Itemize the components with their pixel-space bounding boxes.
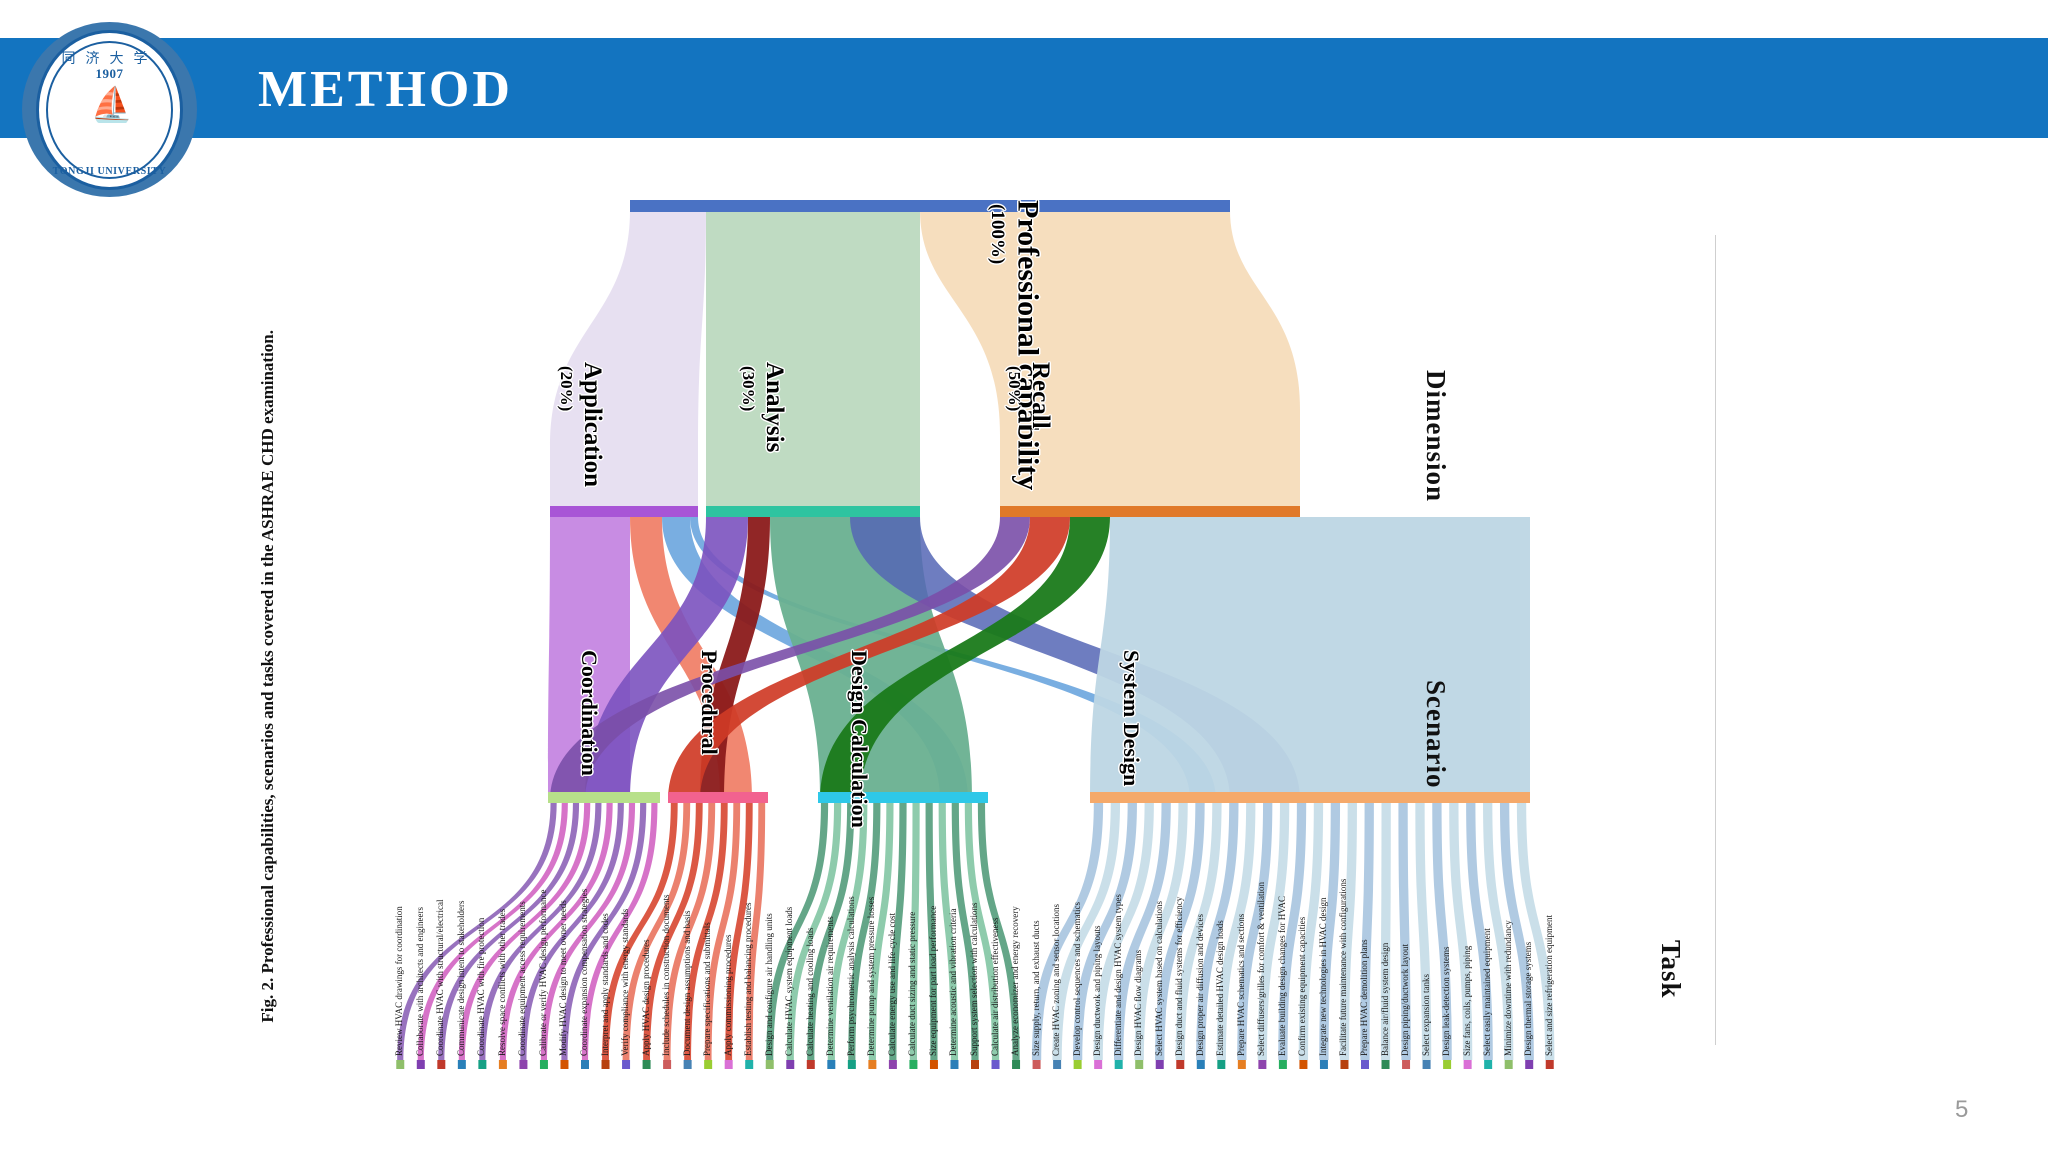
node-task[interactable] <box>704 1060 712 1069</box>
node-task[interactable] <box>1525 1060 1533 1069</box>
figure-container: Fig. 2. Professional capabilities, scena… <box>300 180 1720 1130</box>
node-task[interactable] <box>1361 1060 1369 1069</box>
node-label-professional-capability-text: Professional capability <box>1012 200 1045 490</box>
task-label: Select easily maintained equipment <box>1482 928 1492 1056</box>
node-task[interactable] <box>622 1060 630 1069</box>
task-label: Select and size refrigeration equipment <box>1544 915 1554 1056</box>
task-label: Prepare specifications and submittals <box>702 922 712 1056</box>
task-label: Prepare HVAC demolition plans <box>1359 939 1369 1056</box>
task-label: Design leak-detection systems <box>1441 947 1451 1056</box>
node-label-recall: Recall <box>1026 362 1054 429</box>
task-label: Design HVAC flow diagrams <box>1133 950 1143 1056</box>
task-label: Select diffusers/grilles for comfort & v… <box>1256 882 1266 1056</box>
node-label-system-design: System Design <box>1118 650 1144 786</box>
node-task[interactable] <box>889 1060 897 1069</box>
task-label: Establish testing and balancing procedur… <box>743 903 753 1056</box>
node-task[interactable] <box>1135 1060 1143 1069</box>
node-task[interactable] <box>909 1060 917 1069</box>
task-label: Calibrate or verify HVAC design performa… <box>538 889 548 1056</box>
page-title: METHOD <box>258 60 513 119</box>
logo-cjk-name: 同济大学 <box>22 48 197 68</box>
task-label: Perform psychrometric analysis calculati… <box>846 896 856 1056</box>
slide-number: 5 <box>1955 1096 1968 1124</box>
task-label: Interpret and apply standards and codes <box>600 913 610 1056</box>
node-task[interactable] <box>1012 1060 1020 1069</box>
node-procedural[interactable] <box>668 792 768 803</box>
node-label-professional-capability-percent: (100%) <box>986 204 1008 264</box>
node-task[interactable] <box>1115 1060 1123 1069</box>
node-task[interactable] <box>643 1060 651 1069</box>
node-task[interactable] <box>1382 1060 1390 1069</box>
task-label: Document design assumptions and basis <box>682 911 692 1057</box>
node-task[interactable] <box>786 1060 794 1069</box>
task-label: Determine ventilation air requirements <box>825 916 835 1056</box>
task-label: Select expansion tanks <box>1421 974 1431 1056</box>
flow-scenario-task <box>766 803 828 1060</box>
task-node-ticks <box>396 1060 1553 1069</box>
node-task[interactable] <box>1423 1060 1431 1069</box>
task-label: Apply HVAC design procedures <box>641 939 651 1056</box>
task-label: Design and configure air handling units <box>764 913 774 1056</box>
node-task[interactable] <box>437 1060 445 1069</box>
node-task[interactable] <box>1094 1060 1102 1069</box>
task-label: Determine pump and system pressure losse… <box>866 897 876 1056</box>
node-task[interactable] <box>663 1060 671 1069</box>
node-task[interactable] <box>1217 1060 1225 1069</box>
task-label: Design thermal storage systems <box>1523 942 1533 1056</box>
node-task[interactable] <box>1320 1060 1328 1069</box>
node-task[interactable] <box>684 1060 692 1069</box>
column-header-dimension: Dimension <box>1420 370 1451 502</box>
task-label: Size supply, return, and exhaust ducts <box>1031 920 1041 1056</box>
node-task[interactable] <box>1074 1060 1082 1069</box>
node-recall[interactable] <box>1000 506 1300 517</box>
flow-root-analysis <box>706 210 920 515</box>
node-task[interactable] <box>1299 1060 1307 1069</box>
task-label: Calculate HVAC system equipment loads <box>784 907 794 1056</box>
task-label: Confirm existing equipment capacities <box>1297 917 1307 1056</box>
node-task[interactable] <box>1505 1060 1513 1069</box>
task-label: Calculate energy use and life-cycle cost <box>887 913 897 1056</box>
node-task[interactable] <box>766 1060 774 1069</box>
node-label-coordination: Coordination <box>576 650 602 776</box>
node-task[interactable] <box>478 1060 486 1069</box>
task-label: Verify compliance with energy standards <box>620 909 630 1056</box>
task-label: Differentiate and design HVAC system typ… <box>1113 894 1123 1056</box>
task-label: Create HVAC zoning and sensor locations <box>1051 904 1061 1056</box>
node-task[interactable] <box>827 1060 835 1069</box>
task-label: Design piping/ductwork layout <box>1400 944 1410 1056</box>
node-task[interactable] <box>560 1060 568 1069</box>
node-task[interactable] <box>868 1060 876 1069</box>
task-label: Balance air/fluid system design <box>1380 943 1390 1056</box>
task-label: Design duct and fluid systems for effici… <box>1174 897 1184 1056</box>
node-task[interactable] <box>1156 1060 1164 1069</box>
node-system-design[interactable] <box>1090 792 1530 803</box>
node-task[interactable] <box>971 1060 979 1069</box>
node-task[interactable] <box>848 1060 856 1069</box>
node-task[interactable] <box>1197 1060 1205 1069</box>
task-label: Calculate heating and cooling loads <box>805 928 815 1056</box>
node-task[interactable] <box>602 1060 610 1069</box>
column-header-task: Task <box>1655 940 1686 999</box>
task-label: Design ductwork and piping layouts <box>1092 926 1102 1056</box>
task-label: Facilitate future maintenance with confi… <box>1338 879 1348 1056</box>
node-task[interactable] <box>519 1060 527 1069</box>
node-task[interactable] <box>458 1060 466 1069</box>
node-label-application-percent: (20%) <box>556 366 576 411</box>
task-label: Calculate air distribution effectiveness <box>990 917 1000 1056</box>
node-task[interactable] <box>1464 1060 1472 1069</box>
node-label-procedural: Procedural <box>696 650 722 755</box>
task-label: Prepare HVAC schematics and sections <box>1236 914 1246 1056</box>
node-task[interactable] <box>1546 1060 1554 1069</box>
task-label: Include schedules in construction docume… <box>661 895 671 1056</box>
node-task[interactable] <box>1279 1060 1287 1069</box>
node-task[interactable] <box>1402 1060 1410 1069</box>
node-coordination[interactable] <box>548 792 660 803</box>
task-label: Modify HVAC design to meet owner needs <box>558 900 568 1056</box>
node-task[interactable] <box>540 1060 548 1069</box>
task-label: Review HVAC drawings for coordination <box>394 906 404 1056</box>
task-label: Minimize downtime with redundancy <box>1503 920 1513 1056</box>
node-task[interactable] <box>1484 1060 1492 1069</box>
node-design-calculation[interactable] <box>818 792 988 803</box>
flow-root-recall <box>920 210 1300 513</box>
node-task[interactable] <box>1340 1060 1348 1069</box>
task-label: Evaluate building design changes for HVA… <box>1277 896 1287 1056</box>
task-label: Determine acoustic and vibration criteri… <box>948 909 958 1056</box>
column-header-scenario: Scenario <box>1420 680 1451 789</box>
task-label: Size fans, coils, pumps, piping <box>1462 946 1472 1056</box>
node-label-analysis-percent: (30%) <box>738 366 758 411</box>
task-label: Coordinate HVAC with structural/electric… <box>435 899 445 1056</box>
node-task[interactable] <box>950 1060 958 1069</box>
node-task[interactable] <box>1033 1060 1041 1069</box>
task-label: Analyze economizer and energy recovery <box>1010 906 1020 1056</box>
task-label: Resolve space conflicts with other trade… <box>497 909 507 1056</box>
task-label: Apply commissioning procedures <box>723 935 733 1056</box>
flow-scenario-task <box>623 803 691 1060</box>
node-task[interactable] <box>930 1060 938 1069</box>
node-label-professional-capability: Professional capability <box>1012 200 1044 490</box>
task-label: Integrate new technologies in HVAC desig… <box>1318 897 1328 1056</box>
task-label: Design proper air diffusion and devices <box>1195 914 1205 1056</box>
task-label: Support system selection with calculatio… <box>969 903 979 1056</box>
flow-root-application <box>550 210 706 510</box>
node-label-application: Application <box>578 362 606 487</box>
flow-recall-systemdesign <box>1090 517 1530 800</box>
task-label: Coordinate HVAC with fire protection <box>476 918 486 1056</box>
tongji-university-logo: 同济大学 1907 ⛵ TONGJI UNIVERSITY <box>22 22 197 197</box>
node-task[interactable] <box>1258 1060 1266 1069</box>
node-task[interactable] <box>745 1060 753 1069</box>
node-task[interactable] <box>396 1060 404 1069</box>
task-label: Collaborate with architects and engineer… <box>415 907 425 1056</box>
node-task[interactable] <box>1238 1060 1246 1069</box>
node-analysis[interactable] <box>706 506 920 517</box>
node-task[interactable] <box>1053 1060 1061 1069</box>
node-task[interactable] <box>992 1060 1000 1069</box>
task-label: Calculate duct sizing and static pressur… <box>907 912 917 1056</box>
node-label-analysis: Analysis <box>760 362 788 452</box>
task-label: Coordinate expansion compensation strate… <box>579 889 589 1056</box>
node-task[interactable] <box>417 1060 425 1069</box>
task-label: Communicate design intent to stakeholder… <box>456 901 466 1056</box>
node-task[interactable] <box>1176 1060 1184 1069</box>
task-label: Coordinate equipment access requirements <box>517 901 527 1056</box>
logo-boat-mark: ⛵ <box>68 80 152 132</box>
node-professional-capability[interactable] <box>630 200 1230 212</box>
node-task[interactable] <box>581 1060 589 1069</box>
node-task[interactable] <box>807 1060 815 1069</box>
node-label-recall-percent: (50%) <box>1004 366 1024 411</box>
task-label: Develop control sequences and schematics <box>1072 902 1082 1056</box>
node-label-design-calculation: Design Calculation <box>846 650 872 828</box>
node-task[interactable] <box>1443 1060 1451 1069</box>
node-task[interactable] <box>499 1060 507 1069</box>
task-label: Select HVAC system based on calculations <box>1154 901 1164 1056</box>
node-application[interactable] <box>550 506 698 517</box>
node-task[interactable] <box>725 1060 733 1069</box>
task-label: Estimate detailed HVAC design loads <box>1215 920 1225 1056</box>
logo-english-name: TONGJI UNIVERSITY <box>22 166 197 177</box>
task-label: Size equipment for part load performance <box>928 906 938 1056</box>
